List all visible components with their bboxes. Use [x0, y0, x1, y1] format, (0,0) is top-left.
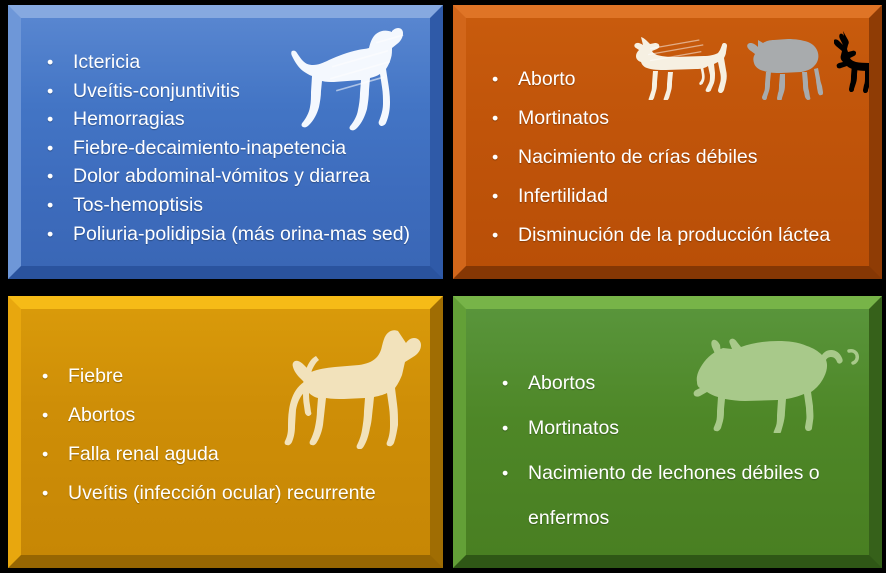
bullet-icon: •	[42, 396, 48, 435]
list-item-label: Ictericia	[73, 51, 140, 73]
horse-symptom-list: •Fiebre •Abortos •Falla renal aguda •Uve…	[68, 357, 376, 513]
bullet-icon: •	[42, 474, 48, 513]
list-item-label: Falla renal aguda	[68, 443, 219, 465]
panel-dog-inner: •Ictericia •Uveítis-conjuntivitis •Hemor…	[21, 18, 430, 266]
list-item: •Infertilidad	[518, 177, 830, 216]
list-item-label: Ictericia	[518, 263, 585, 266]
bullet-icon: •	[47, 220, 53, 249]
list-item: •Uveítis-conjuntivitis	[73, 77, 410, 106]
list-item-label: Fiebre	[68, 365, 123, 387]
bullet-icon: •	[492, 60, 498, 99]
ruminant-symptom-list: •Aborto •Mortinatos •Nacimiento de crías…	[518, 60, 830, 266]
bullet-icon: •	[47, 191, 53, 220]
bullet-icon: •	[47, 162, 53, 191]
list-item-label: Nacimiento de lechones débiles o enfermo…	[528, 462, 820, 529]
panel-pig: •Abortos •Mortinatos •Nacimiento de lech…	[453, 296, 882, 568]
bullet-icon: •	[47, 105, 53, 134]
list-item: •Ictericia	[73, 48, 410, 77]
goat-icon	[834, 30, 869, 96]
dog-symptom-list: •Ictericia •Uveítis-conjuntivitis •Hemor…	[73, 48, 410, 248]
list-item: •Disminución de la producción láctea	[518, 216, 830, 255]
list-item-label: Mortinatos	[518, 107, 609, 129]
list-item: •Ictericia	[518, 255, 830, 266]
list-item-label: Hemorragias	[73, 108, 185, 130]
list-item-label: Dolor abdominal-vómitos y diarrea	[73, 165, 370, 187]
list-item-label: Disminución de la producción láctea	[518, 224, 830, 246]
panel-pig-inner: •Abortos •Mortinatos •Nacimiento de lech…	[466, 309, 869, 555]
list-item: •Falla renal aguda	[68, 435, 376, 474]
list-item-label: Poliuria-polidipsia (más orina-mas sed)	[73, 223, 410, 245]
list-item-label: Aborto	[518, 68, 575, 90]
list-item: •Aborto	[518, 60, 830, 99]
list-item: •Poliuria-polidipsia (más orina-mas sed)	[73, 220, 410, 249]
list-item: •Dolor abdominal-vómitos y diarrea	[73, 162, 410, 191]
list-item: •Mortinatos	[528, 406, 828, 451]
list-item: •Hemorragias	[73, 105, 410, 134]
list-item-label: Mortinatos	[528, 417, 619, 439]
bullet-icon: •	[492, 138, 498, 177]
symptom-panel-board: •Ictericia •Uveítis-conjuntivitis •Hemor…	[0, 0, 886, 573]
list-item: •Fiebre	[68, 357, 376, 396]
bullet-icon: •	[492, 99, 498, 138]
bullet-icon: •	[502, 361, 508, 406]
list-item-label: Infertilidad	[518, 185, 608, 207]
list-item-label: Uveítis (infección ocular) recurrente	[68, 482, 376, 504]
panel-ruminants: •Aborto •Mortinatos •Nacimiento de crías…	[453, 5, 882, 279]
list-item: •Abortos	[68, 396, 376, 435]
bullet-icon: •	[42, 435, 48, 474]
list-item-label: Abortos	[68, 404, 135, 426]
list-item-label: Uveítis-conjuntivitis	[73, 80, 240, 102]
bullet-icon: •	[492, 255, 498, 266]
panel-horse-inner: •Fiebre •Abortos •Falla renal aguda •Uve…	[21, 309, 430, 555]
list-item: •Mortinatos	[518, 99, 830, 138]
list-item: •Tos-hemoptisis	[73, 191, 410, 220]
bullet-icon: •	[492, 177, 498, 216]
panel-dog: •Ictericia •Uveítis-conjuntivitis •Hemor…	[8, 5, 443, 279]
list-item-label: Fiebre-decaimiento-inapetencia	[73, 137, 346, 159]
pig-symptom-list: •Abortos •Mortinatos •Nacimiento de lech…	[528, 361, 828, 541]
list-item-label: Abortos	[528, 372, 595, 394]
panel-ruminants-inner: •Aborto •Mortinatos •Nacimiento de crías…	[466, 18, 869, 266]
list-item-label: Nacimiento de crías débiles	[518, 146, 758, 168]
list-item: •Uveítis (infección ocular) recurrente	[68, 474, 376, 513]
bullet-icon: •	[47, 134, 53, 163]
bullet-icon: •	[492, 216, 498, 255]
bullet-icon: •	[502, 406, 508, 451]
bullet-icon: •	[47, 77, 53, 106]
bullet-icon: •	[502, 451, 508, 496]
bullet-icon: •	[42, 357, 48, 396]
list-item-label: Tos-hemoptisis	[73, 194, 203, 216]
list-item: •Nacimiento de lechones débiles o enferm…	[528, 451, 828, 541]
bullet-icon: •	[47, 48, 53, 77]
list-item: •Fiebre-decaimiento-inapetencia	[73, 134, 410, 163]
list-item: •Abortos	[528, 361, 828, 406]
list-item: •Nacimiento de crías débiles	[518, 138, 830, 177]
panel-horse: •Fiebre •Abortos •Falla renal aguda •Uve…	[8, 296, 443, 568]
